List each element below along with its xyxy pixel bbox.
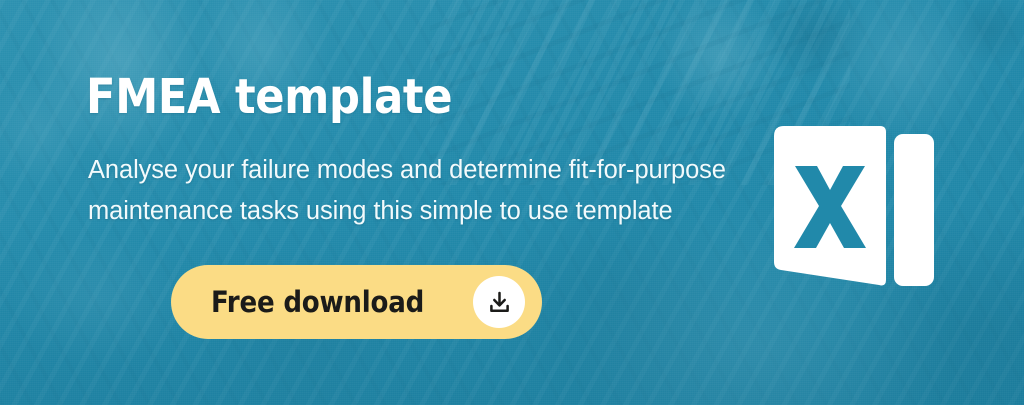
banner-subtitle: Analyse your failure modes and determine… [88,150,748,232]
banner-subtitle-line-2: maintenance tasks using this simple to u… [88,191,748,232]
microsoft-excel-logo [762,120,938,296]
excel-logo-side-bar [894,134,934,286]
banner-content: FMEA template Analyse your failure modes… [86,0,766,405]
download-icon[interactable] [473,276,525,328]
banner-subtitle-line-1: Analyse your failure modes and determine… [88,156,726,184]
fmea-template-promo-banner: FMEA template Analyse your failure modes… [0,0,1024,405]
free-download-button-label: Free download [211,285,424,319]
free-download-button[interactable]: Free download [171,265,542,339]
page-title: FMEA template [86,72,452,122]
